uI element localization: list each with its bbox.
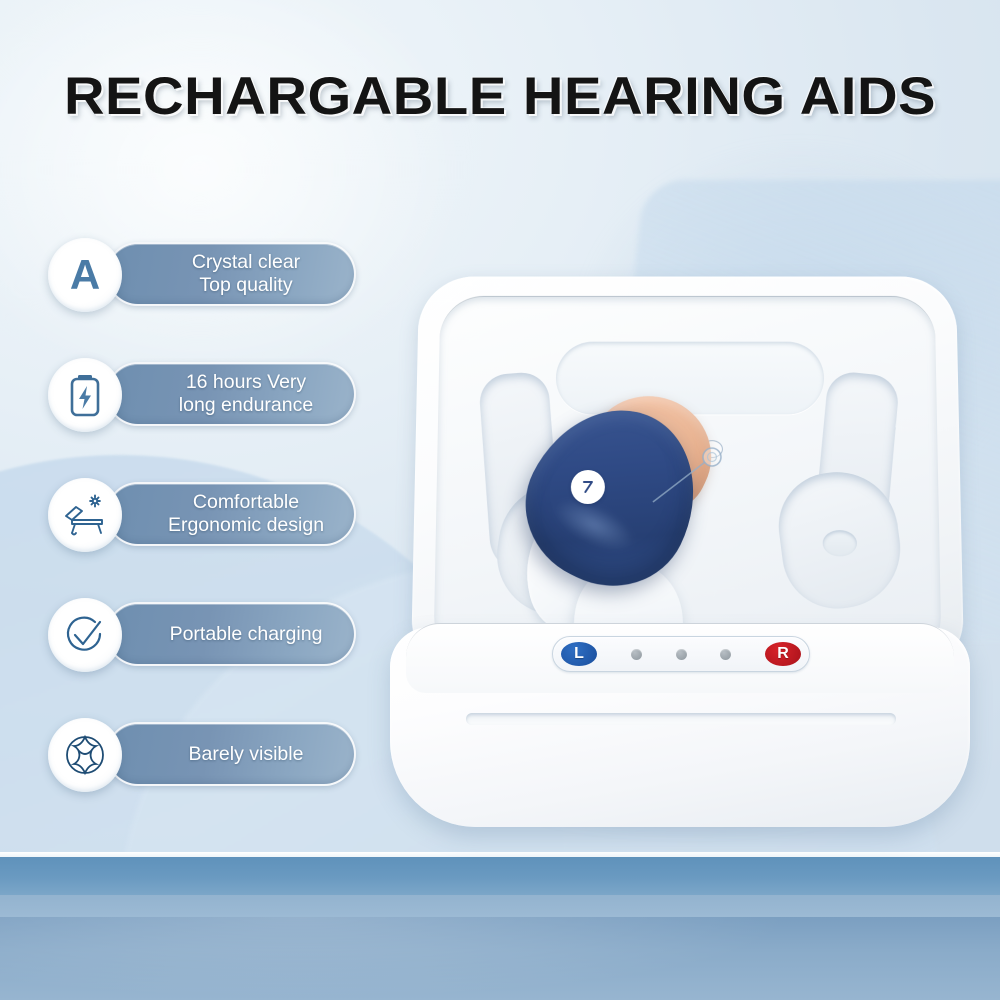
feature-pill: Comfortable Ergonomic design	[106, 482, 356, 546]
page-title: RECHARGABLE HEARING AIDS	[0, 66, 1000, 127]
charging-case-seam-groove	[466, 713, 896, 725]
charging-case-base-top-face: L R	[406, 623, 954, 693]
feature-item-crystal-clear: Crystal clear Top quality A	[48, 238, 368, 312]
feature-pill: 16 hours Very long endurance	[106, 362, 356, 426]
indicator-panel: L R	[552, 636, 810, 672]
background-band-primary	[0, 857, 1000, 895]
lounge-chair-icon	[62, 494, 108, 536]
letter-a-icon: A	[70, 254, 100, 296]
feature-icon-badge	[48, 718, 122, 792]
feature-label: 16 hours Very long endurance	[179, 371, 313, 417]
feature-pill: Barely visible	[106, 722, 356, 786]
feature-icon-badge	[48, 358, 122, 432]
check-circle-icon	[62, 612, 108, 658]
feature-icon-badge	[48, 598, 122, 672]
poster-canvas: RECHARGABLE HEARING AIDS	[0, 0, 1000, 1000]
ear-hook-mark-icon	[579, 478, 597, 496]
left-channel-badge: L	[561, 642, 597, 666]
right-channel-badge: R	[765, 642, 801, 666]
charging-case-base: L R	[390, 627, 970, 827]
feature-pill: Portable charging	[106, 602, 356, 666]
led-indicator-3	[720, 649, 731, 660]
flower-star-icon	[62, 732, 108, 778]
feature-list: Crystal clear Top quality A 16 hours Ver…	[48, 238, 368, 792]
battery-charging-icon	[65, 373, 105, 417]
feature-label: Comfortable Ergonomic design	[168, 491, 324, 537]
feature-icon-badge: A	[48, 238, 122, 312]
led-indicator-1	[631, 649, 642, 660]
feature-label: Barely visible	[189, 743, 304, 766]
feature-label: Crystal clear Top quality	[192, 251, 300, 297]
feature-icon-badge	[48, 478, 122, 552]
charging-case-lid-interior	[433, 296, 941, 661]
product-image: L R	[380, 255, 980, 835]
background-band-sheen	[0, 917, 1000, 1000]
hearing-aid	[494, 395, 737, 656]
led-indicator-2	[676, 649, 687, 660]
charging-case-lid	[411, 277, 965, 676]
hearing-aid-badge	[571, 470, 605, 504]
lid-cavity-detail-dot	[823, 530, 857, 556]
feature-item-endurance: 16 hours Very long endurance	[48, 358, 368, 432]
feature-item-barely-visible: Barely visible	[48, 718, 368, 792]
feature-item-ergonomic: Comfortable Ergonomic design	[48, 478, 368, 552]
background-band-secondary	[0, 895, 1000, 917]
feature-item-portable-charging: Portable charging	[48, 598, 368, 672]
feature-pill: Crystal clear Top quality	[106, 242, 356, 306]
feature-label: Portable charging	[170, 623, 323, 646]
